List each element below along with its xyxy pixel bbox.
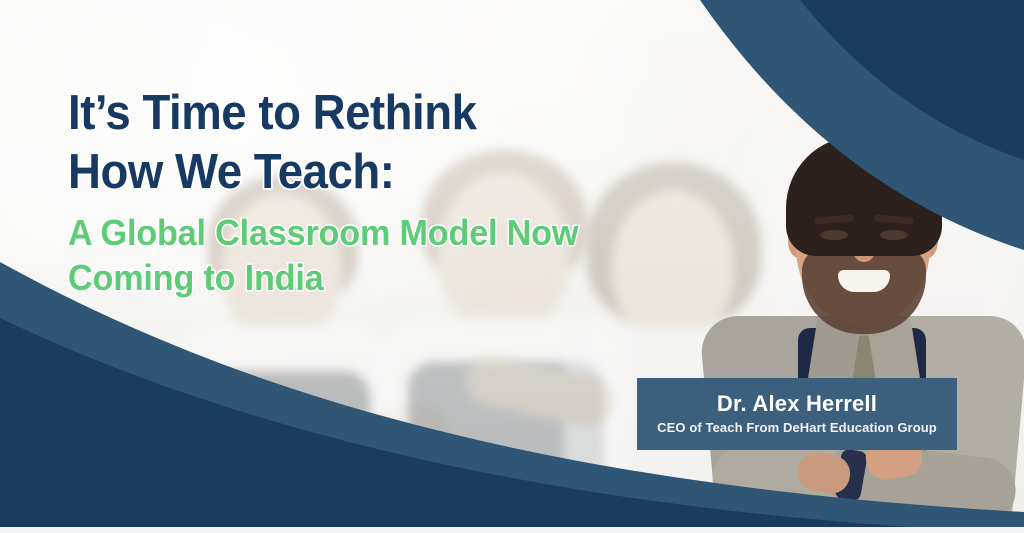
- headline-line-1: It’s Time to Rethink: [68, 84, 645, 143]
- presenter-smile: [838, 270, 890, 292]
- subheadline-line-2: Coming to India: [68, 255, 657, 300]
- subheadline-line-1: A Global Classroom Model Now: [68, 210, 657, 255]
- speaker-name: Dr. Alex Herrell: [717, 391, 877, 417]
- presenter-hair: [786, 136, 942, 256]
- presenter-eye-right: [880, 230, 908, 240]
- speaker-role: CEO of Teach From DeHart Education Group: [657, 419, 937, 437]
- speaker-name-card: Dr. Alex Herrell CEO of Teach From DeHar…: [637, 378, 957, 450]
- presenter-portrait: [690, 120, 1020, 533]
- presenter-eye-left: [820, 230, 848, 240]
- bottom-edge-strip: [0, 527, 1024, 533]
- headline-block: It’s Time to Rethink How We Teach: A Glo…: [68, 84, 688, 300]
- headline-line-2: How We Teach:: [68, 143, 645, 202]
- webinar-banner: It’s Time to Rethink How We Teach: A Glo…: [0, 0, 1024, 533]
